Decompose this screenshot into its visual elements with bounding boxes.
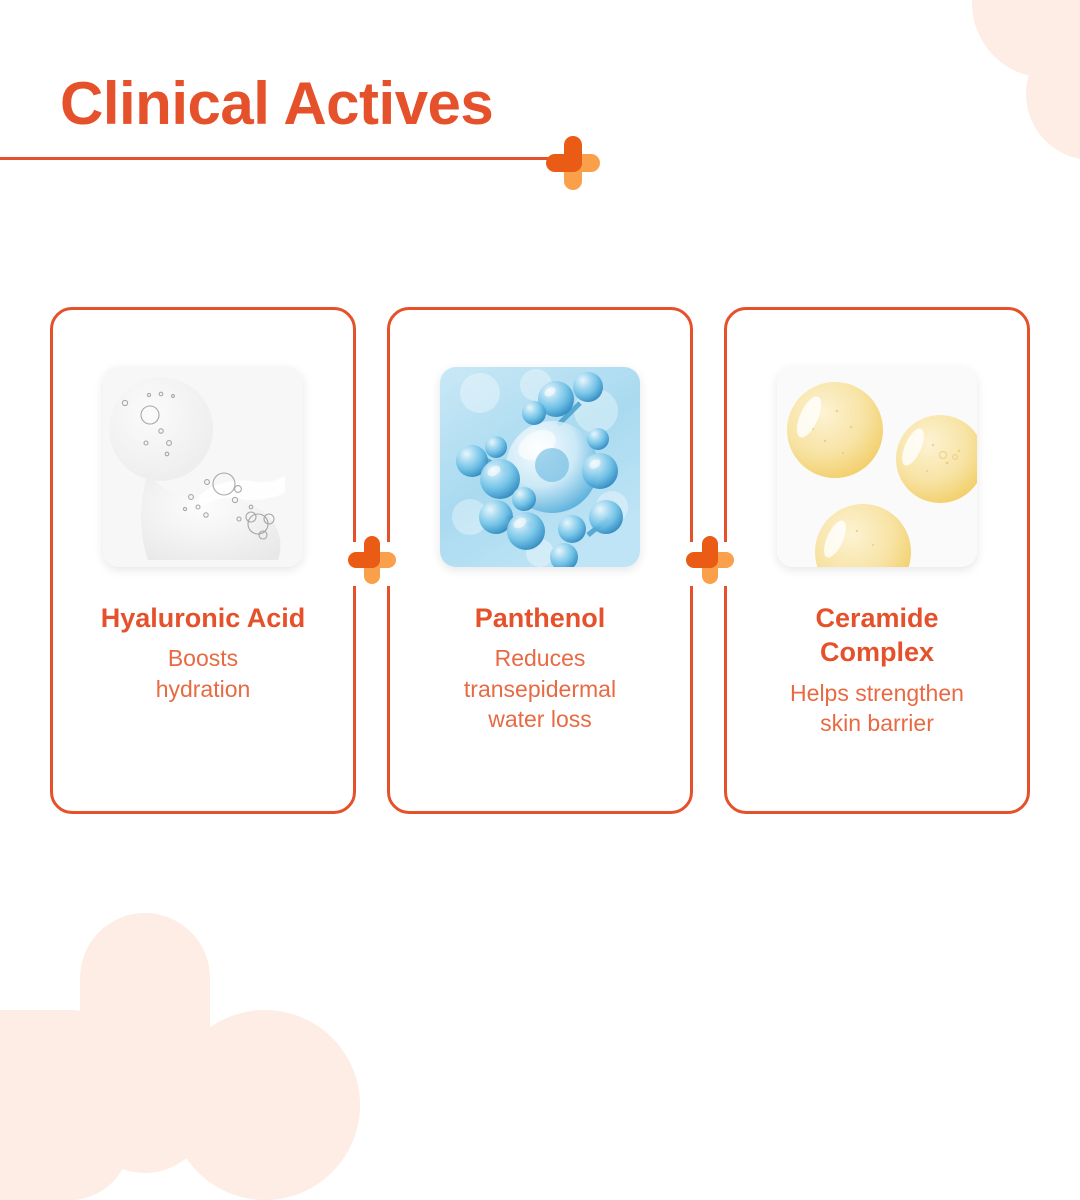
- active-card-hyaluronic-acid[interactable]: Hyaluronic Acid Boosts hydration: [50, 307, 356, 814]
- yellow-ceramide-droplets-image: [777, 367, 977, 567]
- clover-petal-left: [546, 154, 582, 171]
- title-underline-rule: [0, 157, 585, 160]
- clover-plus-icon: [546, 136, 600, 190]
- header: Clinical Actives: [60, 72, 1040, 135]
- clover-plus-icon-divider-1: [348, 536, 396, 584]
- corner-blob-bottom-left-1: [80, 913, 210, 1173]
- active-card-panthenol[interactable]: Panthenol Reduces transepidermal water l…: [387, 307, 693, 814]
- card-description: Boosts hydration: [146, 643, 261, 704]
- card-title: Hyaluronic Acid: [89, 601, 318, 635]
- page-title: Clinical Actives: [60, 72, 1040, 135]
- card-description: Helps strengthen skin barrier: [780, 678, 974, 739]
- clover-plus-icon-divider-2: [686, 536, 734, 584]
- card-title: Ceramide Complex: [803, 601, 950, 670]
- active-card-ceramide-complex[interactable]: Ceramide Complex Helps strengthen skin b…: [724, 307, 1030, 814]
- corner-blob-bottom-left-2: [0, 1010, 130, 1200]
- blue-molecule-bubbles-image: [440, 367, 640, 567]
- clover-petal-left: [348, 552, 380, 567]
- card-description: Reduces transepidermal water loss: [454, 643, 626, 734]
- corner-blob-top-right-1: [972, 0, 1080, 78]
- card-title: Panthenol: [463, 601, 618, 635]
- clear-gel-droplets-image: [103, 367, 303, 567]
- clover-petal-left: [686, 552, 718, 567]
- actives-card-row: Hyaluronic Acid Boosts hydration: [50, 307, 1030, 814]
- corner-blob-bottom-left-3: [170, 1010, 360, 1200]
